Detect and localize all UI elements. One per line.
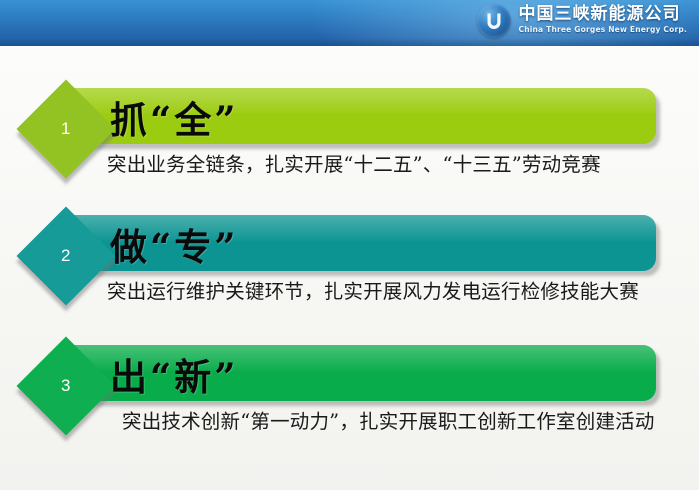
brand-name-en: China Three Gorges New Energy Corp. — [519, 26, 688, 34]
section-heading-2: 做“专” — [110, 216, 239, 272]
section-body-3: 突出技术创新“第一动力”，扎实开展职工创新工作室创建活动 — [122, 407, 678, 437]
section-heading-1: 抓“全” — [110, 89, 239, 145]
number-label-3: 3 — [31, 351, 101, 421]
brand-text: 中国三峡新能源公司 China Three Gorges New Energy … — [519, 6, 688, 36]
section-heading-3: 出“新” — [110, 346, 239, 402]
number-label-1: 1 — [31, 94, 101, 164]
section-body-2: 突出运行维护关键环节，扎实开展风力发电运行检修技能大赛 — [107, 277, 677, 307]
brand-name-cn: 中国三峡新能源公司 — [519, 6, 688, 23]
slide-canvas: 中国三峡新能源公司 China Three Gorges New Energy … — [0, 0, 699, 490]
three-gorges-u-logo-icon — [477, 4, 511, 38]
number-label-2: 2 — [31, 221, 101, 291]
slide-header: 中国三峡新能源公司 China Three Gorges New Energy … — [0, 0, 699, 46]
brand-lockup: 中国三峡新能源公司 China Three Gorges New Energy … — [477, 4, 688, 38]
section-body-1: 突出业务全链条，扎实开展“十二五”、“十三五”劳动竞赛 — [107, 150, 677, 180]
